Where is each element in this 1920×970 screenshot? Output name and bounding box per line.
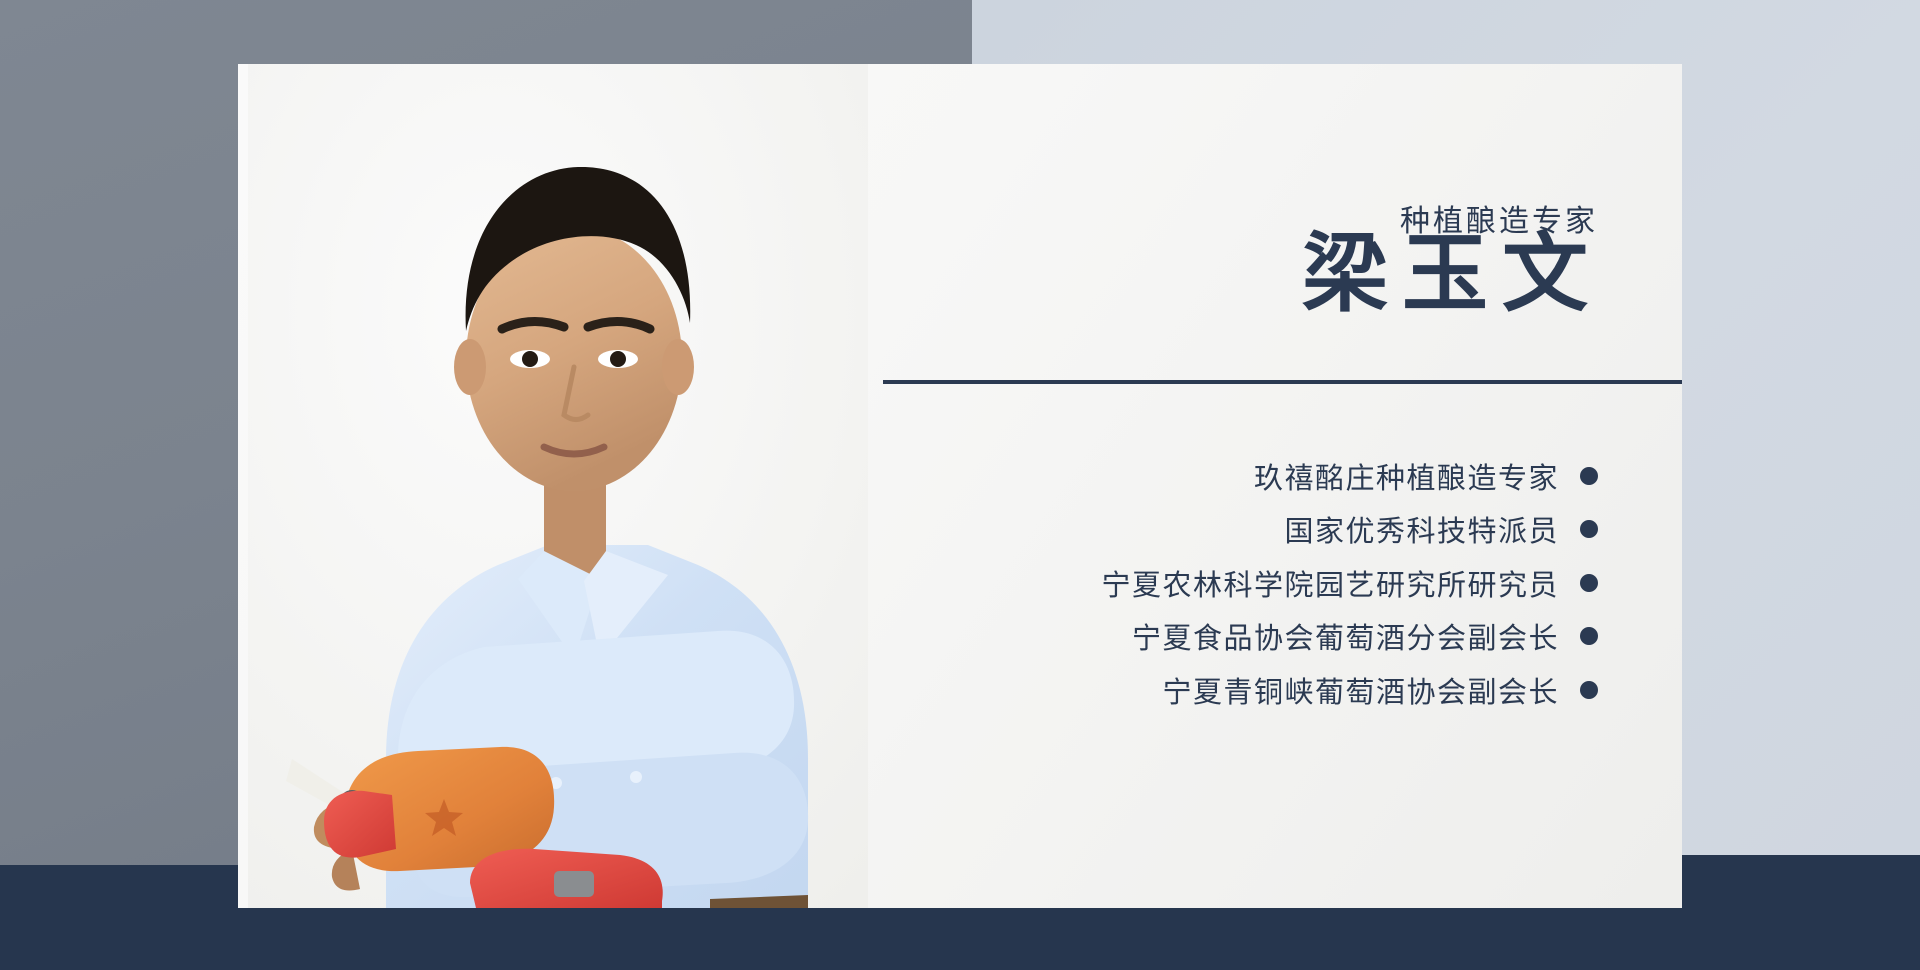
portrait-photo xyxy=(248,64,868,908)
text-column: 种植酿造专家 梁玉文 玖禧酩庄种植酿造专家 国家优秀科技特派员 宁夏农林科学院园… xyxy=(838,64,1598,908)
credential-label: 玖禧酩庄种植酿造专家 xyxy=(1254,455,1559,497)
poster-canvas: 种植酿造专家 梁玉文 玖禧酩庄种植酿造专家 国家优秀科技特派员 宁夏农林科学院园… xyxy=(0,0,1920,970)
portrait-illustration xyxy=(248,64,868,908)
tool-handle xyxy=(324,791,396,858)
bullet-dot-icon xyxy=(1580,467,1598,485)
divider-line xyxy=(883,380,1682,384)
credential-item: 玖禧酩庄种植酿造专家 xyxy=(838,449,1598,503)
credential-label: 国家优秀科技特派员 xyxy=(1284,508,1559,550)
bullet-dot-icon xyxy=(1580,520,1598,538)
credentials-list: 玖禧酩庄种植酿造专家 国家优秀科技特派员 宁夏农林科学院园艺研究所研究员 宁夏食… xyxy=(838,449,1598,717)
credential-item: 宁夏青铜峡葡萄酒协会副会长 xyxy=(838,663,1598,717)
credential-item: 国家优秀科技特派员 xyxy=(838,503,1598,557)
background-navy-band-right xyxy=(1681,855,1920,970)
bullet-dot-icon xyxy=(1580,681,1598,699)
credential-label: 宁夏青铜峡葡萄酒协会副会长 xyxy=(1162,669,1559,711)
divider xyxy=(883,375,1682,389)
bullet-dot-icon xyxy=(1580,574,1598,592)
profile-card: 种植酿造专家 梁玉文 玖禧酩庄种植酿造专家 国家优秀科技特派员 宁夏农林科学院园… xyxy=(238,64,1682,908)
bullet-dot-icon xyxy=(1580,627,1598,645)
credential-item: 宁夏农林科学院园艺研究所研究员 xyxy=(838,556,1598,610)
credential-item: 宁夏食品协会葡萄酒分会副会长 xyxy=(838,610,1598,664)
expert-name: 梁玉文 xyxy=(1302,222,1602,327)
credential-label: 宁夏农林科学院园艺研究所研究员 xyxy=(1101,562,1559,604)
credential-label: 宁夏食品协会葡萄酒分会副会长 xyxy=(1132,615,1559,657)
